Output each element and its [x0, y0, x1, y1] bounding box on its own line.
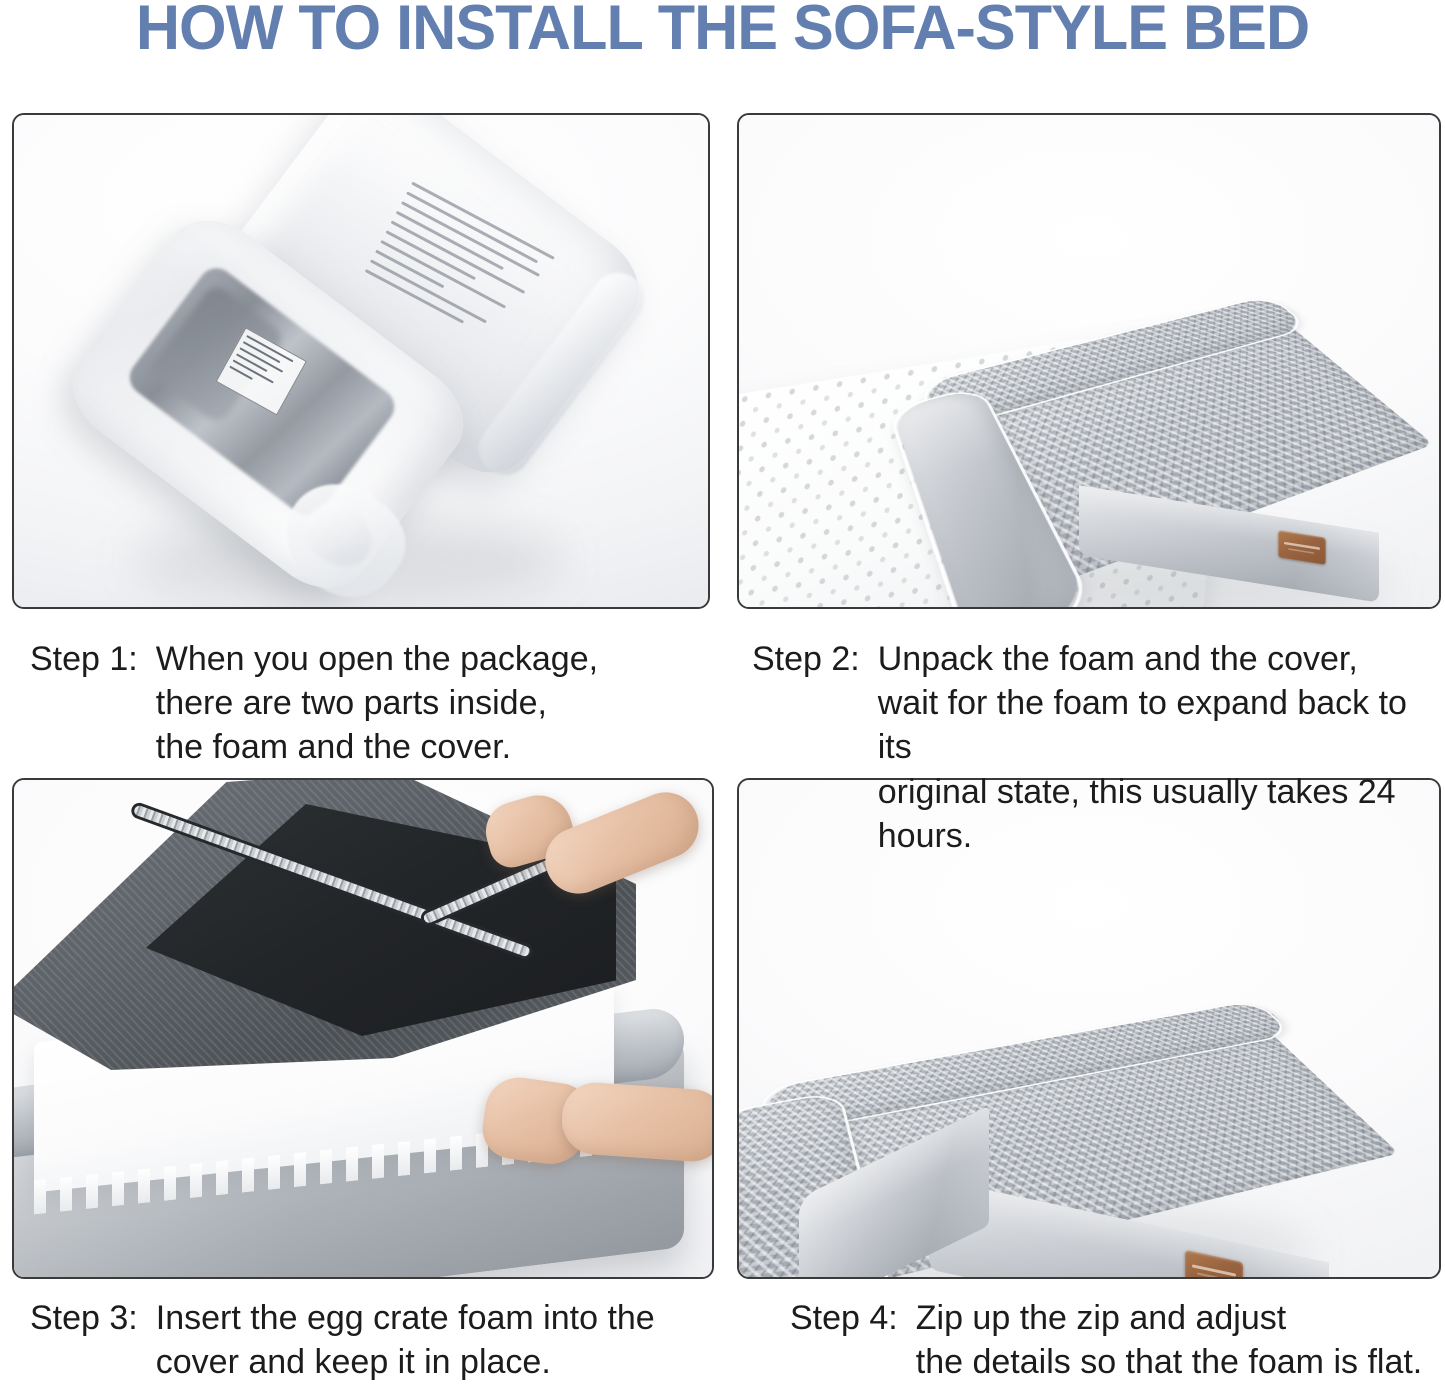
- step-1-caption: Step 1: When you open the package, there…: [30, 637, 598, 770]
- forearm-lower: [560, 1080, 714, 1163]
- step-4-label: Step 4:: [790, 1296, 898, 1340]
- step-1-label: Step 1:: [30, 637, 138, 681]
- step-4-text: Zip up the zip and adjust the details so…: [916, 1296, 1423, 1384]
- step-2-caption: Step 2: Unpack the foam and the cover, w…: [752, 637, 1445, 858]
- step-4-caption: Step 4: Zip up the zip and adjust the de…: [790, 1296, 1422, 1384]
- step-1-image-panel: [12, 113, 710, 609]
- step-2-image-panel: [737, 113, 1441, 609]
- step-1-text: When you open the package, there are two…: [156, 637, 598, 770]
- foam-and-cover-photo: [739, 115, 1439, 607]
- sofa-style-bed: [779, 970, 1399, 1279]
- step-3-image-panel: [12, 778, 714, 1279]
- packaged-rolls-photo: [14, 115, 708, 607]
- step-2-label: Step 2:: [752, 637, 860, 681]
- sofa-style-bed: [957, 263, 1417, 593]
- step-3-text: Insert the egg crate foam into the cover…: [156, 1296, 655, 1384]
- step-3-label: Step 3:: [30, 1296, 138, 1340]
- step-3-caption: Step 3: Insert the egg crate foam into t…: [30, 1296, 655, 1384]
- page-title: HOW TO INSTALL THE SOFA-STYLE BED: [22, 0, 1424, 64]
- step-2-text: Unpack the foam and the cover, wait for …: [878, 637, 1445, 858]
- inserting-foam-photo: [14, 780, 712, 1277]
